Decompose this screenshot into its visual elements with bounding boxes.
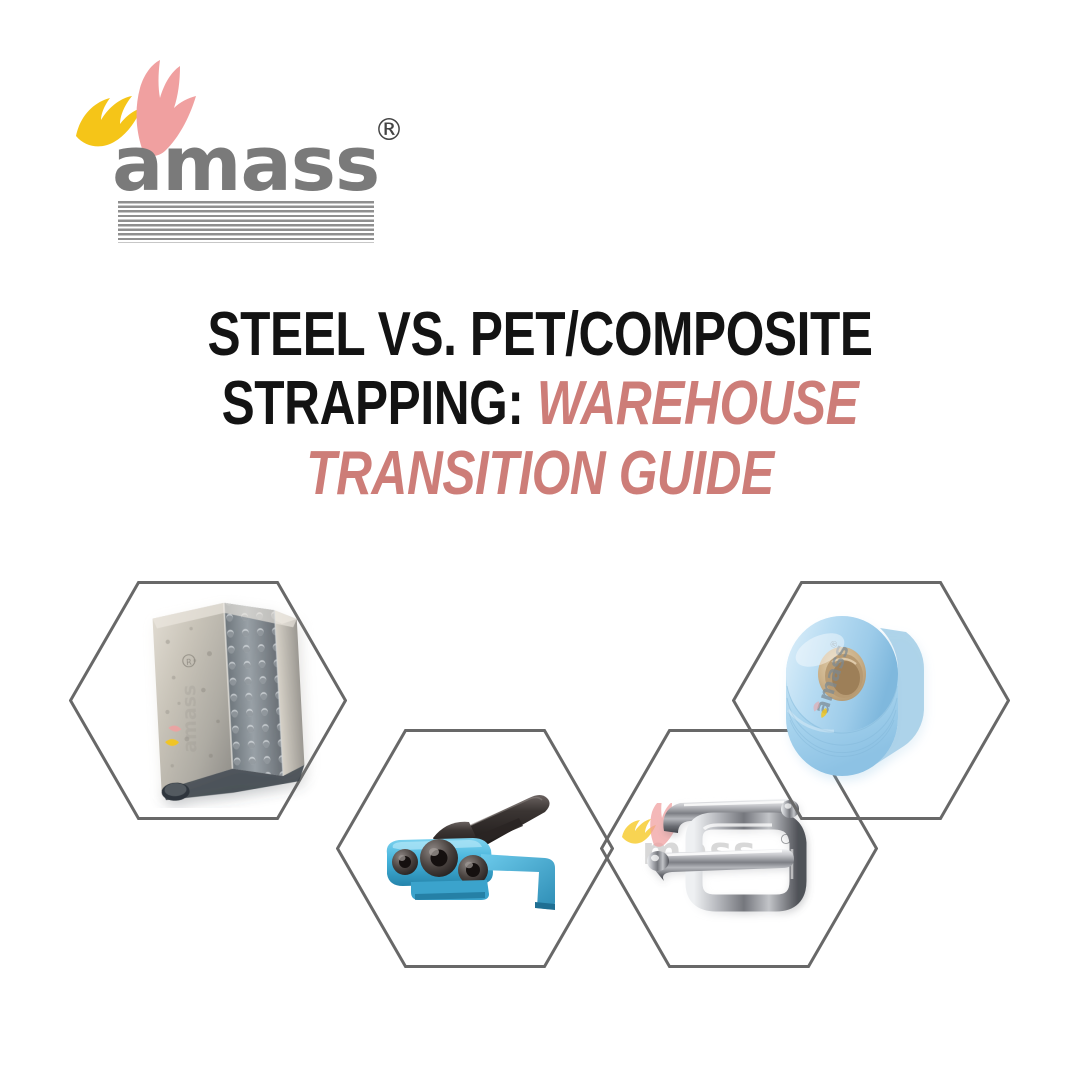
svg-text:R: R <box>186 658 192 667</box>
hex-cell-strapping-tensioner[interactable] <box>336 729 614 968</box>
hex-cell-pet-strapping-roll[interactable]: amass ® <box>732 581 1010 820</box>
hex-cell-steel-seal[interactable]: R amass <box>69 581 347 820</box>
product-hex-gallery: R amass <box>0 0 1080 1080</box>
product-photo-pet-roll: amass ® <box>732 581 1010 820</box>
poster-canvas: amass ® STEEL VS. PET/COMPOSITESTRAPPING… <box>0 0 1080 1080</box>
product-photo-steel-seal: R amass <box>69 581 347 820</box>
product-photo-tensioner <box>336 729 614 968</box>
svg-text:amass: amass <box>178 685 201 753</box>
